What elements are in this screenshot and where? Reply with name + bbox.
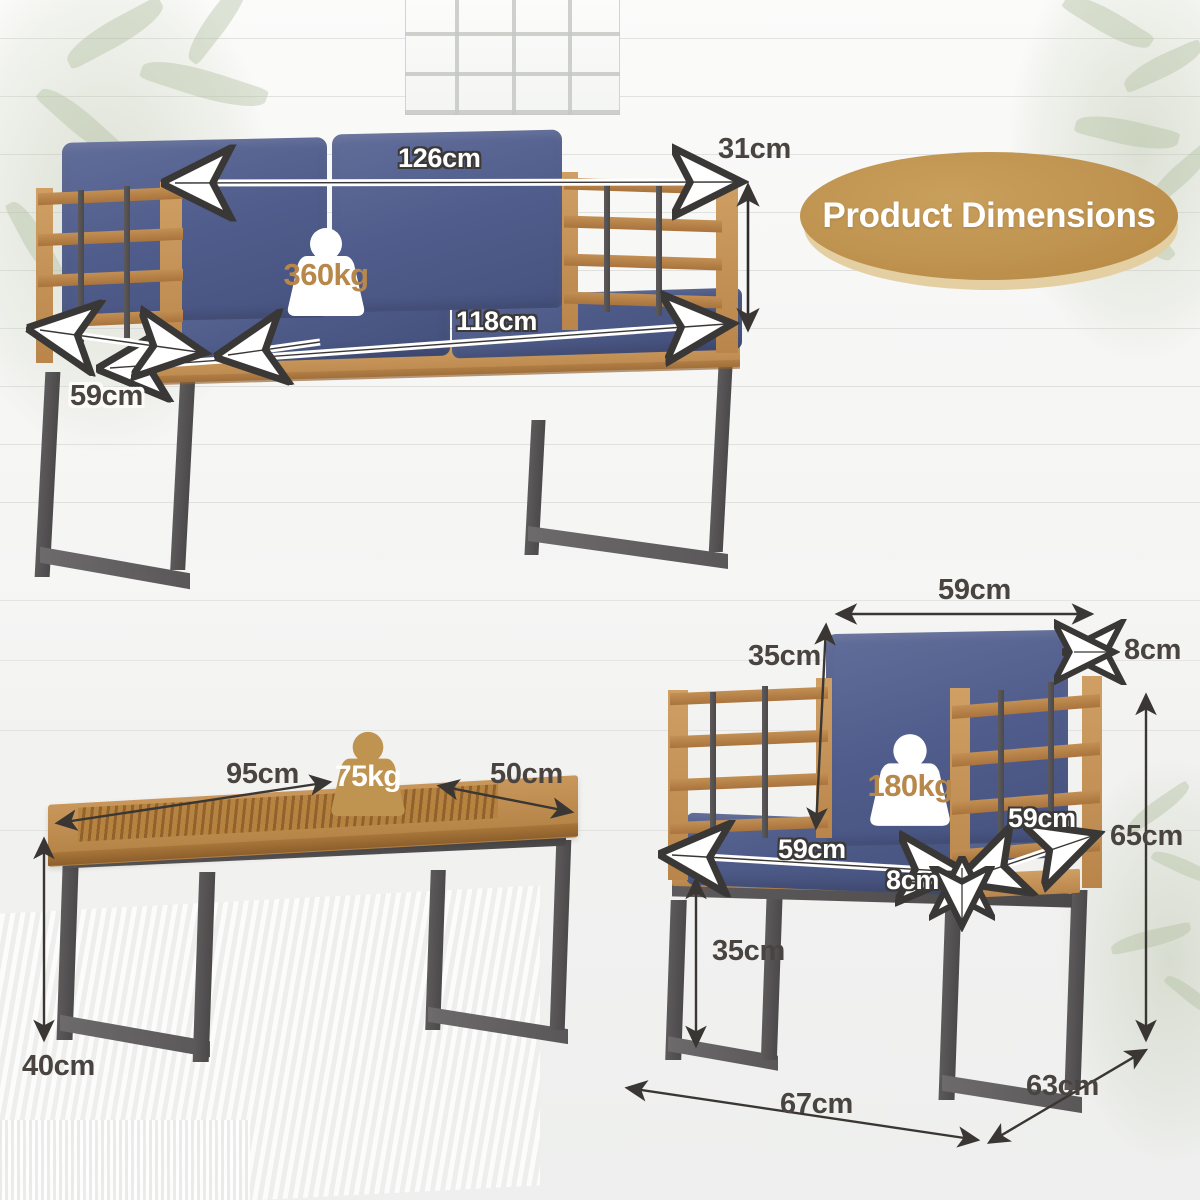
chair-total-height-label: 65cm bbox=[1110, 820, 1183, 853]
badge-title: Product Dimensions bbox=[800, 152, 1178, 280]
product-dimensions-infographic: 126cm 118cm 31cm 59cm 360kg bbox=[0, 0, 1200, 1200]
chair-load-capacity-text: 180kg bbox=[868, 768, 953, 804]
chair-back-height-label: 35cm bbox=[748, 640, 821, 673]
chair-seat-height-label: 35cm bbox=[712, 935, 785, 968]
chair-seat-thickness-label: 8cm bbox=[886, 865, 939, 896]
chair-seat-depth-label: 59cm bbox=[1008, 803, 1076, 834]
chair-back-width-label: 59cm bbox=[938, 574, 1011, 607]
chair-overall-depth-label: 63cm bbox=[1026, 1070, 1099, 1103]
chair-back-thickness-label: 8cm bbox=[1124, 634, 1181, 667]
product-dimensions-badge: Product Dimensions bbox=[800, 152, 1180, 290]
chair-overall-width-label: 67cm bbox=[780, 1088, 853, 1121]
chair-load-capacity-badge: 180kg bbox=[858, 730, 962, 830]
chair-seat-width-label: 59cm bbox=[778, 834, 846, 865]
